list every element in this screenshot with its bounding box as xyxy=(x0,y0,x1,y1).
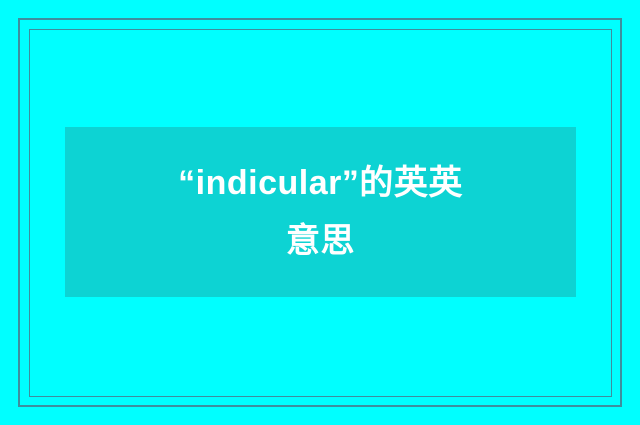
poster-canvas: “indicular”的英英意思 xyxy=(0,0,640,425)
page-title: “indicular”的英英意思 xyxy=(171,154,471,271)
title-card: “indicular”的英英意思 xyxy=(65,127,576,297)
